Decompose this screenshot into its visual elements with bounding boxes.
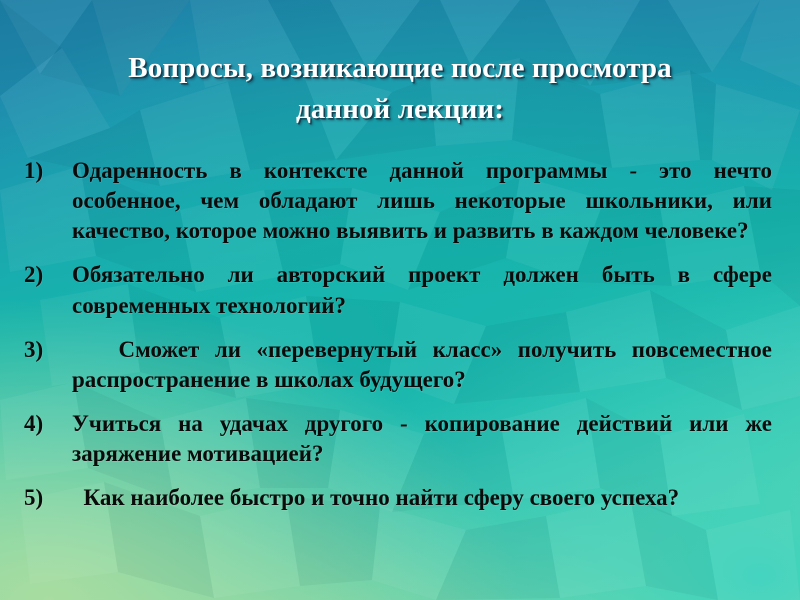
list-item-number: 2): [16, 260, 72, 290]
question-list: 1) Одаренность в контексте данной програ…: [16, 156, 784, 527]
list-item-text: Обязательно ли авторский проект должен б…: [72, 260, 784, 320]
list-item-number: 1): [16, 156, 72, 186]
list-item-number: 4): [16, 409, 72, 439]
list-item-text: Сможет ли «перевернутый класс» получить …: [72, 335, 784, 395]
list-item: 4) Учиться на удачах другого - копирован…: [16, 409, 784, 469]
list-item-text: Одаренность в контексте данной программы…: [72, 156, 784, 246]
list-item-number: 5): [16, 483, 72, 513]
list-item: 2) Обязательно ли авторский проект долже…: [16, 260, 784, 320]
list-item-text: Как наиболее быстро и точно найти сферу …: [72, 483, 784, 513]
list-item: 1) Одаренность в контексте данной програ…: [16, 156, 784, 246]
presentation-slide: Вопросы, возникающие после просмотра дан…: [0, 0, 800, 600]
list-item: 5) Как наиболее быстро и точно найти сфе…: [16, 483, 784, 513]
page-title: Вопросы, возникающие после просмотра дан…: [40, 48, 760, 131]
list-item-number: 3): [16, 335, 72, 365]
list-item-text: Учиться на удачах другого - копирование …: [72, 409, 784, 469]
list-item: 3) Сможет ли «перевернутый класс» получи…: [16, 335, 784, 395]
